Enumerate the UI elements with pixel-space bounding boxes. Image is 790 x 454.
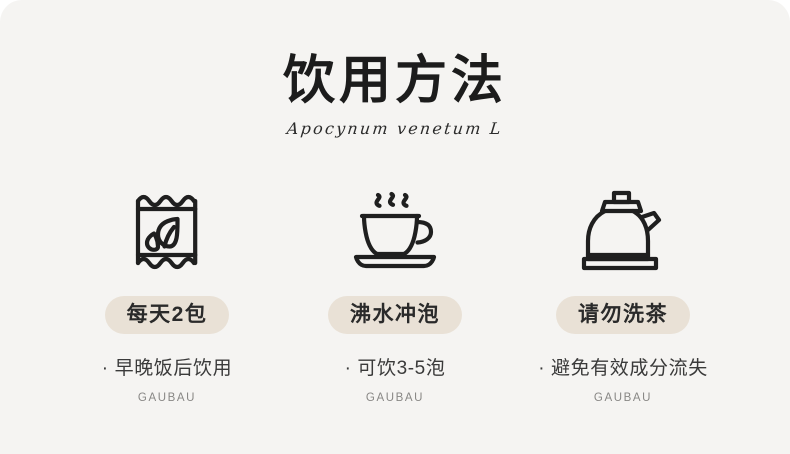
tea-sachet-icon [128,186,206,278]
step-description-2: · 可饮3-5泡 [345,353,446,380]
step-description-1: · 早晚饭后饮用 [102,353,232,380]
brand-label-1: GAUBAU [138,392,196,404]
step-column-2: 沸水冲泡 · 可饮3-5泡 GAUBAU [281,186,509,404]
step-badge-1: 每天2包 [105,296,230,334]
step-column-1: 每天2包 · 早晚饭后饮用 GAUBAU [53,186,281,404]
step-badge-2: 沸水冲泡 [328,296,462,334]
step-badge-3: 请勿洗茶 [556,296,690,334]
page-subtitle: Apocynum venetum L [286,119,504,138]
page-title: 饮用方法 [0,52,790,110]
instruction-card: 饮用方法 Apocynum venetum L [0,0,790,454]
header: 饮用方法 Apocynum venetum L [0,0,790,139]
kettle-icon [576,186,670,278]
brand-label-3: GAUBAU [594,392,652,404]
steps-row: 每天2包 · 早晚饭后饮用 GAUBAU [0,186,790,404]
brand-label-2: GAUBAU [366,392,424,404]
step-column-3: 请勿洗茶 · 避免有效成分流失 GAUBAU [509,186,737,404]
steaming-teacup-icon [346,186,444,278]
step-description-3: · 避免有效成分流失 [538,353,708,380]
